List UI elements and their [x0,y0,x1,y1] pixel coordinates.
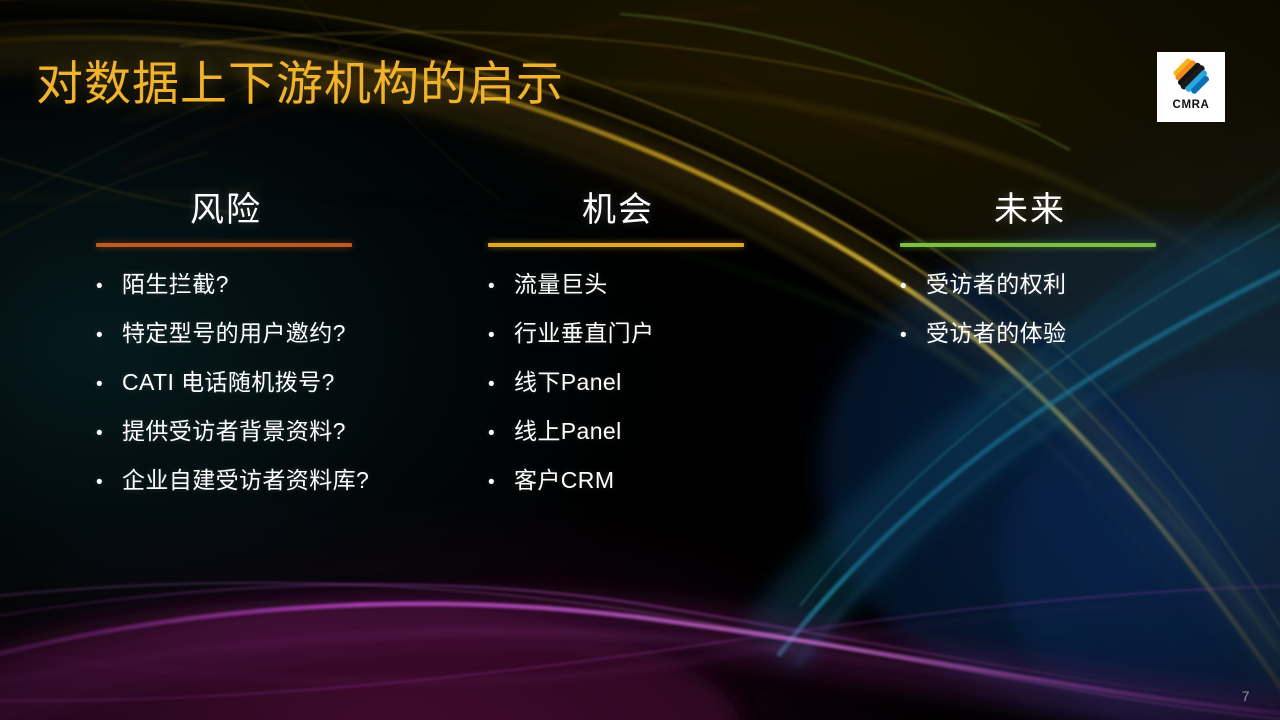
bullet-dot-icon: • [900,277,926,296]
page-number: 7 [1242,688,1250,704]
list-item-label: 受访者的权利 [926,273,1066,296]
list-item: • 行业垂直门户 [488,322,848,371]
page-title: 对数据上下游机构的启示 [36,56,564,111]
column-rule-future [900,243,1156,247]
column-risk: 风险 • 陌生拦截? • 特定型号的用户邀约? • CATI 电话随机拨号? •… [96,192,456,534]
bullet-list-future: • 受访者的权利 • 受访者的体验 [900,273,1200,371]
column-rule-opportunity [488,243,744,247]
list-item: • 流量巨头 [488,273,848,322]
content-columns: 风险 • 陌生拦截? • 特定型号的用户邀约? • CATI 电话随机拨号? •… [0,192,1280,592]
list-item-label: 提供受访者背景资料? [122,420,346,443]
list-item: • 线下Panel [488,371,848,420]
list-item-label: 受访者的体验 [926,322,1066,345]
bullet-dot-icon: • [488,424,514,443]
column-heading-risk: 风险 [96,192,456,229]
bullet-dot-icon: • [488,375,514,394]
list-item-label: 线下Panel [514,371,622,394]
bullet-dot-icon: • [488,326,514,345]
list-item: • 陌生拦截? [96,273,456,322]
list-item: • 提供受访者背景资料? [96,420,456,469]
presentation-slide: 对数据上下游机构的启示 CMRA 风险 • [0,0,1280,720]
list-item-label: 行业垂直门户 [514,322,654,345]
list-item-label: 特定型号的用户邀约? [122,322,346,345]
bullet-dot-icon: • [488,473,514,492]
logo-text: CMRA [1173,100,1210,112]
list-item: • 受访者的体验 [900,322,1200,371]
cmra-logo: CMRA [1157,52,1225,122]
column-heading-future: 未来 [900,192,1200,229]
cmra-diamond-icon [1168,55,1214,99]
bullet-dot-icon: • [488,277,514,296]
list-item: • 企业自建受访者资料库? [96,469,456,518]
list-item: • 线上Panel [488,420,848,469]
bullet-dot-icon: • [96,375,122,394]
bullet-dot-icon: • [900,326,926,345]
list-item: • 受访者的权利 [900,273,1200,322]
column-heading-opportunity: 机会 [488,192,848,229]
bullet-list-risk: • 陌生拦截? • 特定型号的用户邀约? • CATI 电话随机拨号? • 提供… [96,273,456,518]
column-opportunity: 机会 • 流量巨头 • 行业垂直门户 • 线下Panel • 线上Panel [488,192,848,534]
column-future: 未来 • 受访者的权利 • 受访者的体验 [900,192,1200,387]
list-item-label: 流量巨头 [514,273,608,296]
bullet-list-opportunity: • 流量巨头 • 行业垂直门户 • 线下Panel • 线上Panel • [488,273,848,518]
list-item-label: 陌生拦截? [122,273,229,296]
bullet-dot-icon: • [96,473,122,492]
list-item: • 客户CRM [488,469,848,518]
bullet-dot-icon: • [96,277,122,296]
bullet-dot-icon: • [96,424,122,443]
list-item-label: CATI 电话随机拨号? [122,371,335,394]
list-item-label: 企业自建受访者资料库? [122,469,369,492]
list-item-label: 客户CRM [514,469,614,492]
list-item: • 特定型号的用户邀约? [96,322,456,371]
list-item-label: 线上Panel [514,420,622,443]
bullet-dot-icon: • [96,326,122,345]
list-item: • CATI 电话随机拨号? [96,371,456,420]
column-rule-risk [96,243,352,247]
